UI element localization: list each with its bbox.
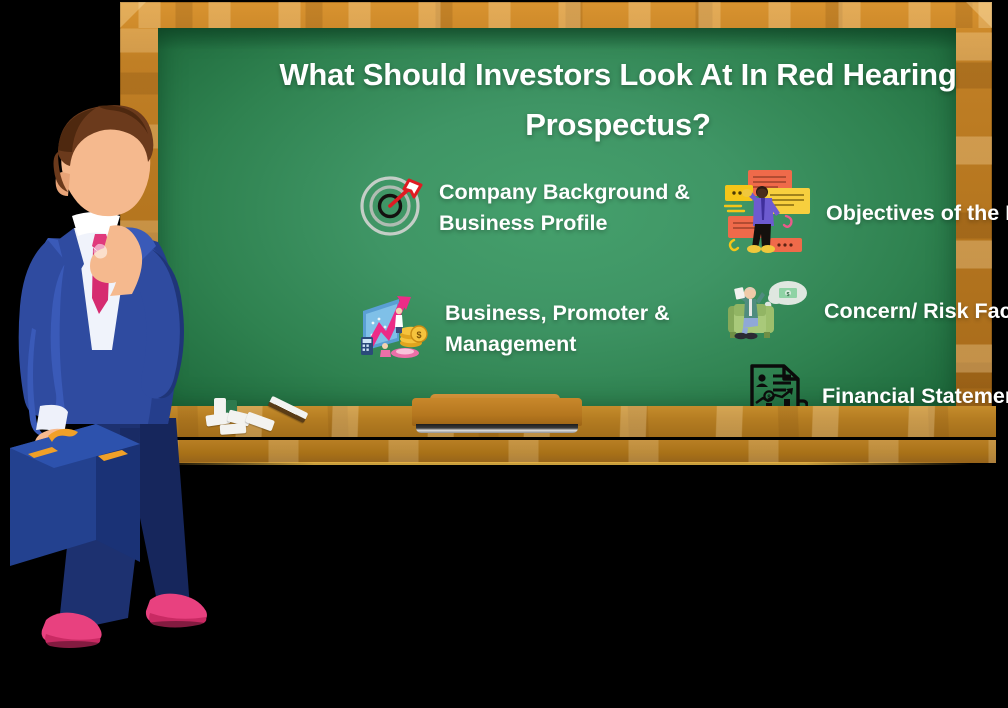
thinking-businessman-illustration xyxy=(0,88,230,703)
worried-person-sofa-money-icon: $ xyxy=(724,278,810,345)
chalkboard-duster-icon[interactable] xyxy=(412,398,582,426)
item-concern-risk-factors[interactable]: $ xyxy=(724,278,1008,345)
chalkboard-surface: What Should Investors Look At In Red Hea… xyxy=(158,28,956,408)
item-label-objectives-of-the-issue: Objectives of the Issue xyxy=(826,198,1008,229)
page-title: What Should Investors Look At In Red Hea… xyxy=(218,50,1008,149)
item-business-promoter-management[interactable]: $ xyxy=(359,293,739,364)
radar-target-dart-icon xyxy=(359,172,425,243)
duster-felt xyxy=(416,424,578,433)
svg-text:$: $ xyxy=(786,292,789,298)
chalkboard-frame: What Should Investors Look At In Red Hea… xyxy=(120,2,992,430)
item-objectives-of-the-issue[interactable]: Objectives of the Issue xyxy=(724,168,1008,259)
scene-root: What Should Investors Look At In Red Hea… xyxy=(0,0,1008,707)
ledge-bottom-highlight xyxy=(150,462,970,465)
item-company-background[interactable]: Company Background & Business Profile xyxy=(359,172,739,243)
chalk-ledge-front xyxy=(118,440,996,463)
item-label-business-promoter-management: Business, Promoter & Management xyxy=(445,298,739,359)
person-speech-cards-icon xyxy=(724,168,812,259)
item-label-concern-risk-factors: Concern/ Risk Factors xyxy=(824,296,1008,327)
svg-text:$: $ xyxy=(416,330,421,340)
frame-miter-top-right xyxy=(966,2,992,28)
growth-chart-coins-icon: $ xyxy=(359,293,431,364)
items-grid: Company Background & Business Profile xyxy=(204,158,1008,448)
chalkboard: What Should Investors Look At In Red Hea… xyxy=(120,0,1008,480)
frame-miter-top-left xyxy=(120,2,146,28)
frame-wood-grain xyxy=(120,2,992,28)
item-label-company-background: Company Background & Business Profile xyxy=(439,177,739,238)
